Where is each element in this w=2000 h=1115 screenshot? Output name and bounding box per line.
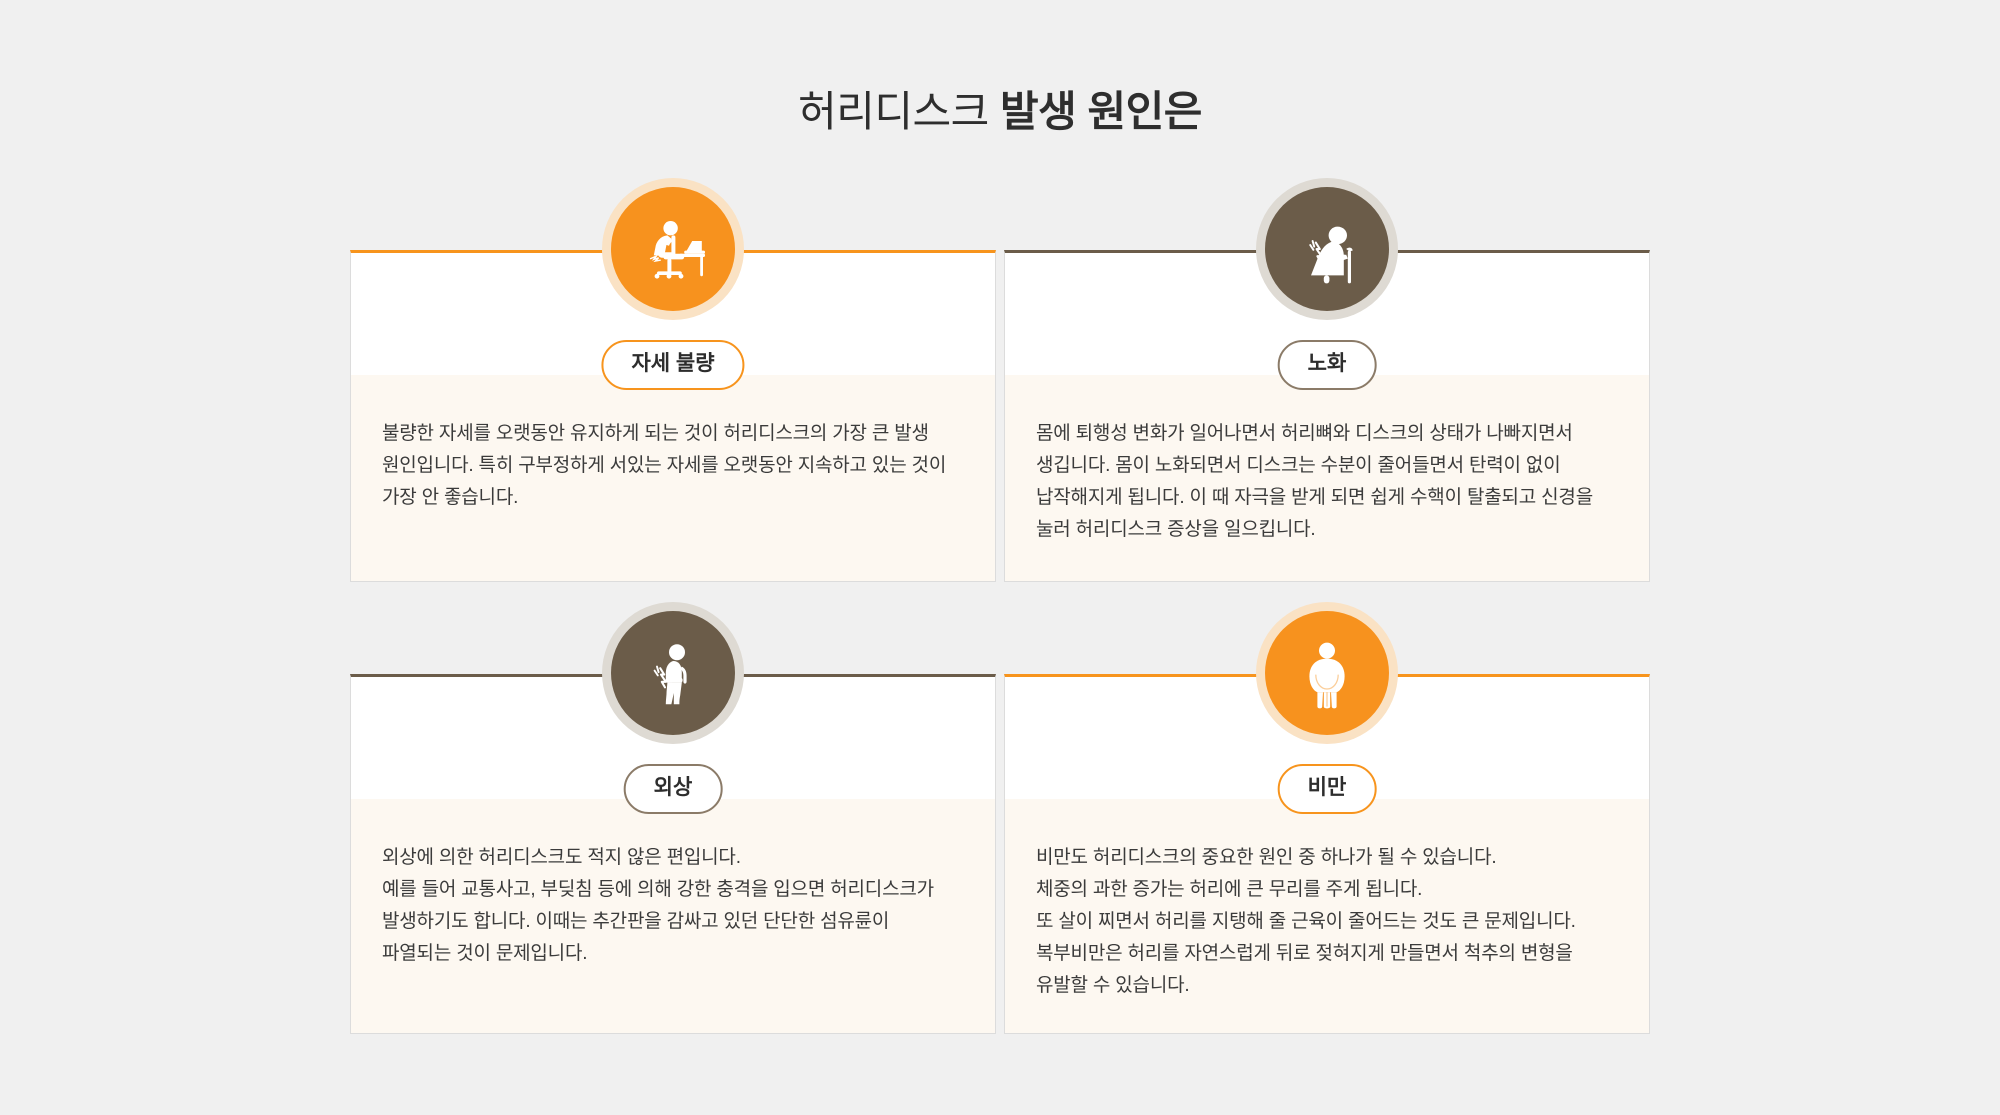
cause-card-grid: 자세 불량 불량한 자세를 오랫동안 유지하게 되는 것이 허리디스크의 가장 …: [350, 250, 1650, 1040]
description-line: 복부비만은 허리를 자연스럽게 뒤로 젖혀지게 만들면서 척추의 변형을: [1036, 938, 1622, 970]
card-description: 외상에 의한 허리디스크도 적지 않은 편입니다. 예를 들어 교통사고, 부딪…: [382, 842, 968, 970]
cause-card-aging: 노화 몸에 퇴행성 변화가 일어나면서 허리뼈와 디스크의 상태가 나빠지면서 …: [1004, 250, 1650, 582]
description-line: 체중의 과한 증가는 허리에 큰 무리를 주게 됩니다.: [1036, 874, 1622, 906]
page-title-light: 허리디스크: [798, 88, 1000, 135]
description-line: 생깁니다. 몸이 노화되면서 디스크는 수분이 줄어들면서 탄력이 없이: [1036, 450, 1622, 482]
card-badge: 외상: [624, 764, 723, 814]
description-line: 예를 들어 교통사고, 부딪침 등에 의해 강한 충격을 입으면 허리디스크가: [382, 874, 968, 906]
card-description: 몸에 퇴행성 변화가 일어나면서 허리뼈와 디스크의 상태가 나빠지면서 생깁니…: [1036, 418, 1622, 546]
person-hunched-at-desk-icon: [602, 178, 744, 320]
icon-glyph: [633, 209, 713, 289]
description-line: 눌러 허리디스크 증상을 일으킵니다.: [1036, 514, 1622, 546]
elderly-person-with-cane-icon: [1256, 178, 1398, 320]
card-description: 불량한 자세를 오랫동안 유지하게 되는 것이 허리디스크의 가장 큰 발생 원…: [382, 418, 968, 514]
icon-glyph: [1287, 209, 1367, 289]
cause-card-posture: 자세 불량 불량한 자세를 오랫동안 유지하게 되는 것이 허리디스크의 가장 …: [350, 250, 996, 582]
icon-glyph: [633, 633, 713, 713]
description-line: 유발할 수 있습니다.: [1036, 970, 1622, 1002]
page-title: 허리디스크 발생 원인은: [0, 84, 2000, 140]
description-line: 불량한 자세를 오랫동안 유지하게 되는 것이 허리디스크의 가장 큰 발생: [382, 418, 968, 450]
description-line: 몸에 퇴행성 변화가 일어나면서 허리뼈와 디스크의 상태가 나빠지면서: [1036, 418, 1622, 450]
card-badge: 노화: [1278, 340, 1377, 390]
card-badge: 자세 불량: [601, 340, 744, 390]
cause-card-trauma: 외상 외상에 의한 허리디스크도 적지 않은 편입니다. 예를 들어 교통사고,…: [350, 674, 996, 1034]
description-line: 납작해지게 됩니다. 이 때 자극을 받게 되면 쉽게 수핵이 탈출되고 신경을: [1036, 482, 1622, 514]
person-with-back-pain-icon: [602, 602, 744, 744]
description-line: 비만도 허리디스크의 중요한 원인 중 하나가 될 수 있습니다.: [1036, 842, 1622, 874]
obese-person-icon: [1256, 602, 1398, 744]
page-title-bold: 발생 원인은: [1000, 88, 1202, 135]
infographic-page: 허리디스크 발생 원인은: [0, 0, 2000, 1115]
description-line: 외상에 의한 허리디스크도 적지 않은 편입니다.: [382, 842, 968, 874]
description-line: 원인입니다. 특히 구부정하게 서있는 자세를 오랫동안 지속하고 있는 것이: [382, 450, 968, 482]
description-line: 파열되는 것이 문제입니다.: [382, 938, 968, 970]
description-line: 가장 안 좋습니다.: [382, 482, 968, 514]
card-badge: 비만: [1278, 764, 1377, 814]
description-line: 또 살이 찌면서 허리를 지탱해 줄 근육이 줄어드는 것도 큰 문제입니다.: [1036, 906, 1622, 938]
description-line: 발생하기도 합니다. 이때는 추간판을 감싸고 있던 단단한 섬유륜이: [382, 906, 968, 938]
cause-card-obesity: 비만 비만도 허리디스크의 중요한 원인 중 하나가 될 수 있습니다. 체중의…: [1004, 674, 1650, 1034]
card-description: 비만도 허리디스크의 중요한 원인 중 하나가 될 수 있습니다. 체중의 과한…: [1036, 842, 1622, 1002]
icon-glyph: [1287, 633, 1367, 713]
